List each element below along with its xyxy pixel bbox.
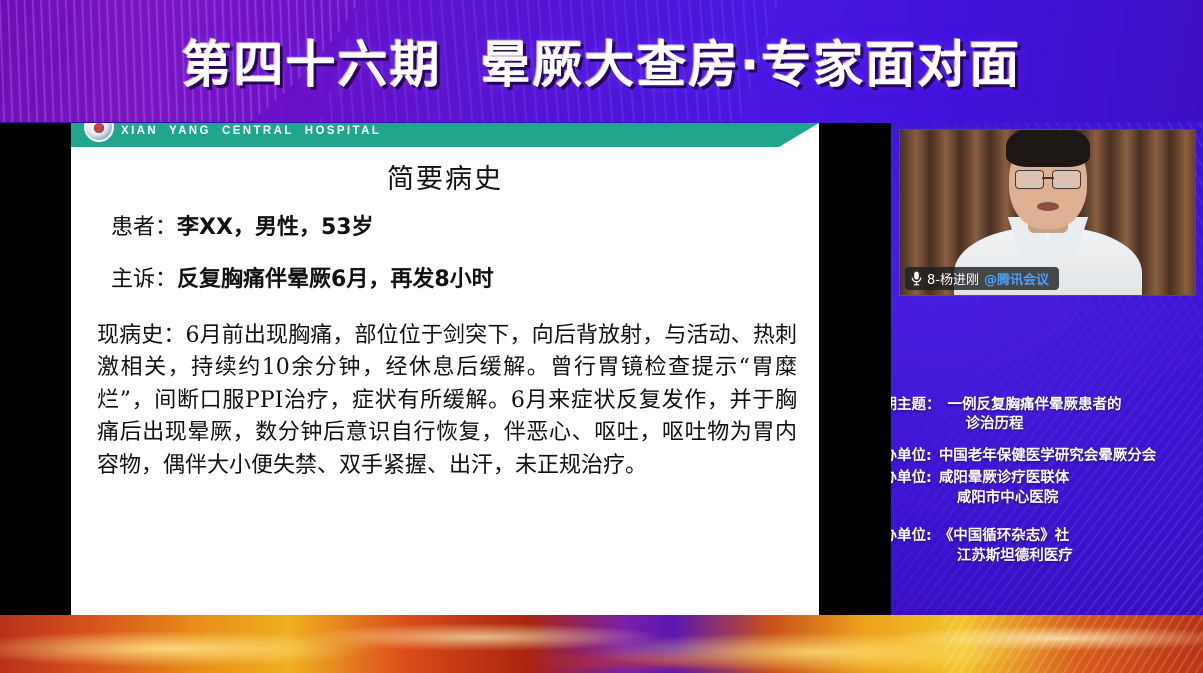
participant-name-badge: 8-杨进刚 @腾讯会议 [905, 267, 1059, 290]
info-row-host: 主办单位: 中国老年保健医学研究会晕厥分会 [868, 447, 1203, 466]
glasses-icon [1015, 170, 1081, 187]
chief-complaint-label: 主诉： [111, 267, 177, 292]
organizer-line-1: 咸阳晕厥诊疗医联体 [939, 469, 1203, 488]
spacer [868, 511, 1203, 527]
cohost-value: 《中国循环杂志》社 江苏斯坦德利医疗 [932, 527, 1203, 566]
footer-ray-decoration [943, 615, 1203, 673]
info-row-cohost: 协办单位: 《中国循环杂志》社 江苏斯坦德利医疗 [868, 527, 1203, 566]
organizer-line-2: 咸阳市中心医院 [939, 489, 1203, 508]
hospital-english-name: XIAN YANG CENTRAL HOSPITAL [121, 125, 381, 137]
footer-wave-decoration [0, 615, 1203, 673]
topic-line-1: 一例反复胸痛伴晕厥患者的 [948, 396, 1203, 415]
history-line: 现病史：6月前出现胸痛，部位位于剑突下，向后背放射，与活动、热刺激相关，持续约1… [97, 320, 797, 483]
topic-value: 一例反复胸痛伴晕厥患者的 诊治历程 [941, 396, 1203, 435]
meeting-watermark: @腾讯会议 [984, 269, 1049, 288]
slide-header-band: XIAN YANG CENTRAL HOSPITAL [71, 123, 819, 147]
hair-shape [1006, 130, 1090, 167]
screen-share-area[interactable]: XIAN YANG CENTRAL HOSPITAL 简要病史 患者：李XX，男… [0, 123, 891, 634]
info-row-organizer: 承办单位: 咸阳晕厥诊疗医联体 咸阳市中心医院 [868, 469, 1203, 508]
chief-complaint-line: 主诉：反复胸痛伴晕厥6月，再发8小时 [97, 267, 797, 293]
cohost-line-2: 江苏斯坦德利医疗 [939, 547, 1203, 566]
spacer [868, 438, 1203, 447]
presentation-slide[interactable]: XIAN YANG CENTRAL HOSPITAL 简要病史 患者：李XX，男… [71, 123, 819, 629]
cohost-line-1: 《中国循环杂志》社 [939, 527, 1203, 546]
slide-title: 简要病史 [71, 157, 819, 196]
topic-line-2: 诊治历程 [948, 415, 1203, 434]
header-title: 第四十六期 晕厥大查房·专家面对面 [0, 0, 1203, 122]
patient-value: 李XX，男性，53岁 [177, 215, 374, 240]
chief-complaint-value: 反复胸痛伴晕厥6月，再发8小时 [177, 267, 494, 292]
organizer-value: 咸阳晕厥诊疗医联体 咸阳市中心医院 [932, 469, 1203, 508]
info-row-topic: 本期主题： 一例反复胸痛伴晕厥患者的 诊治历程 [868, 396, 1203, 435]
patient-line: 患者：李XX，男性，53岁 [97, 215, 797, 241]
host-value: 中国老年保健医学研究会晕厥分会 [932, 447, 1203, 466]
history-value: 6月前出现胸痛，部位位于剑突下，向后背放射，与活动、热刺激相关，持续约10余分钟… [97, 323, 797, 478]
mouth-shape [1037, 202, 1059, 211]
participant-video-tile[interactable]: 8-杨进刚 @腾讯会议 [900, 130, 1195, 295]
event-info-block: 本期主题： 一例反复胸痛伴晕厥患者的 诊治历程 主办单位: 中国老年保健医学研究… [868, 396, 1203, 569]
hospital-seal-icon [84, 123, 114, 142]
webinar-stage: 第四十六期 晕厥大查房·专家面对面 本期主题： 一例反复胸痛伴晕厥患者的 诊治历… [0, 0, 1203, 673]
history-label: 现病史： [97, 323, 186, 348]
slide-body: 患者：李XX，男性，53岁 主诉：反复胸痛伴晕厥6月，再发8小时 现病史：6月前… [97, 215, 797, 483]
participant-name: 8-杨进刚 [927, 269, 979, 288]
header-banner: 第四十六期 晕厥大查房·专家面对面 [0, 0, 1203, 122]
microphone-icon [911, 271, 922, 286]
patient-label: 患者： [111, 215, 177, 240]
